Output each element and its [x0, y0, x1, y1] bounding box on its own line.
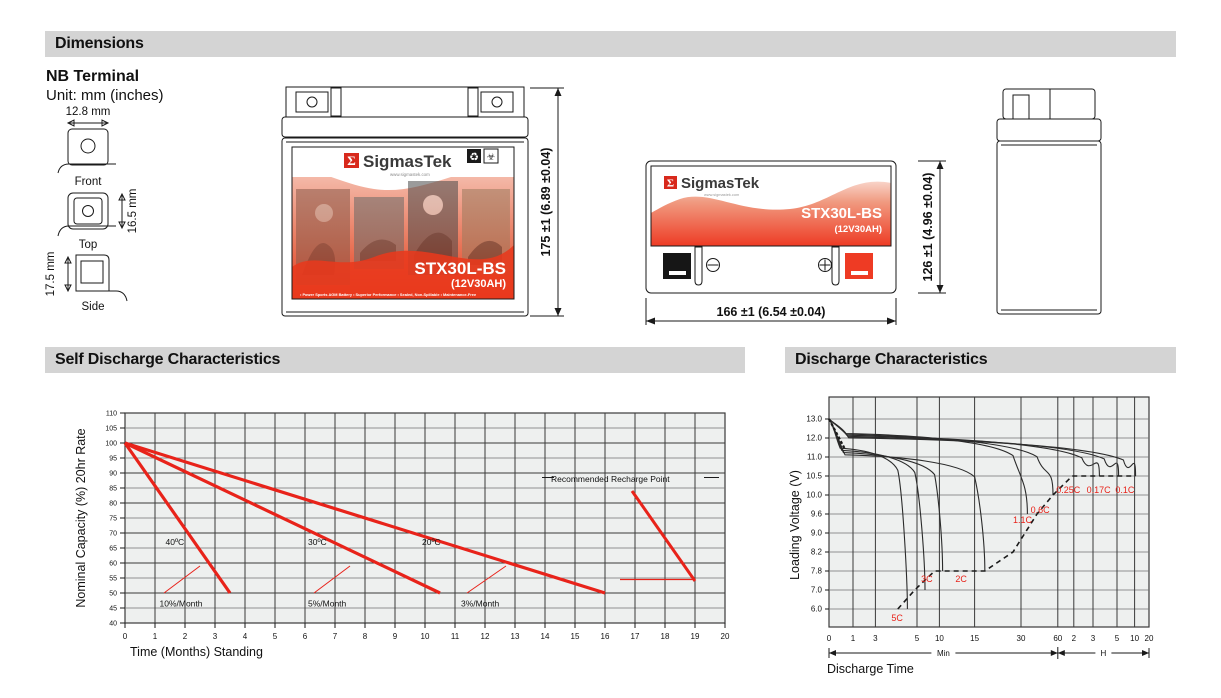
discharge-xtick: 20 [1145, 634, 1154, 643]
self-discharge-ytick: 75 [109, 516, 117, 523]
self-discharge-xtick: 10 [421, 632, 430, 641]
discharge-c-rate-label: 3C [921, 574, 933, 584]
discharge-ytick: 7.0 [811, 586, 823, 595]
self-discharge-xtick: 20 [721, 632, 730, 641]
self-discharge-annotation: 40ºC [166, 537, 185, 547]
self-discharge-xlabel: Time (Months) Standing [130, 645, 263, 659]
brand-website-top: www.sigmastek.com [704, 192, 739, 197]
discharge-c-rate-label: 0.1C [1115, 485, 1135, 495]
discharge-ytick: 12.0 [806, 434, 822, 443]
terminal-view-front-label: Front [75, 176, 103, 188]
discharge-c-rate-label: 0.25C [1056, 485, 1081, 495]
discharge-c-rate-label: 1.1C [1013, 515, 1033, 525]
svg-text:Σ: Σ [347, 153, 356, 168]
dimension-width-label: 166 ±1 (6.54 ±0.04) [717, 305, 826, 319]
battery-front-view: Σ SigmasTek www.sigmastek.com ♻ ☣ STX30L… [278, 85, 538, 325]
self-discharge-annotation: 30ºC [308, 537, 327, 547]
battery-spec-front: (12V30AH) [451, 278, 506, 290]
terminal-negative-block [663, 253, 691, 279]
svg-text:Σ: Σ [667, 178, 674, 190]
section-header-dimensions: Dimensions [45, 31, 1176, 57]
terminal-height-label: 17.5 mm [45, 252, 57, 297]
discharge-ytick: 11.0 [807, 453, 823, 462]
self-discharge-xtick: 7 [333, 632, 338, 641]
battery-side-view [975, 85, 1115, 325]
section-header-self-discharge: Self Discharge Characteristics [45, 347, 745, 373]
discharge-ytick: 7.8 [811, 567, 823, 576]
battery-model-front: STX30L-BS [414, 259, 506, 278]
discharge-ytick: 8.2 [811, 548, 823, 557]
discharge-ytick: 10.0 [806, 491, 822, 500]
self-discharge-ytick: 105 [105, 426, 117, 433]
terminal-width-label: 12.8 mm [66, 106, 111, 118]
battery-top-view: Σ SigmasTek www.sigmastek.com STX30L-BS … [640, 155, 920, 330]
discharge-xtick: 60 [1053, 634, 1062, 643]
self-discharge-ytick: 55 [109, 576, 117, 583]
self-discharge-annotation: 10%/Month [160, 599, 203, 609]
discharge-xtick: 5 [915, 634, 920, 643]
battery-spec-top: (12V30AH) [834, 224, 882, 235]
self-discharge-xtick: 12 [481, 632, 490, 641]
discharge-c-rate-label: 2C [955, 574, 967, 584]
self-discharge-ytick: 110 [106, 411, 117, 418]
discharge-xtick: 15 [970, 634, 979, 643]
discharge-ylabel: Loading Voltage (V) [788, 470, 802, 580]
self-discharge-ytick: 95 [109, 456, 117, 463]
self-discharge-ytick: 60 [109, 561, 117, 568]
positive-terminal-icon [819, 259, 832, 272]
section-header-discharge: Discharge Characteristics [785, 347, 1176, 373]
discharge-ytick: 10.5 [806, 472, 822, 481]
self-discharge-annotation: Recommended Recharge Point [551, 474, 670, 484]
brand-name-top: SigmasTek [681, 175, 760, 192]
terminal-view-top-label: Top [79, 239, 98, 251]
dimension-height: 175 ±1 (6.89 ±0.04) [528, 85, 608, 325]
discharge-c-rate-label: 0.17C [1087, 485, 1112, 495]
section-title-dimensions: Dimensions [55, 35, 144, 53]
discharge-xtick: 3 [873, 634, 878, 643]
brand-name-front: SigmasTek [363, 152, 452, 171]
self-discharge-xtick: 14 [541, 632, 550, 641]
svg-text:♻: ♻ [469, 152, 479, 164]
terminal-detail-drawing: 12.8 mm Front Top 16.5 mm Side 17.5 mm [40, 105, 240, 330]
discharge-c-rate-label: 0.6C [1031, 505, 1051, 515]
self-discharge-ytick: 85 [109, 486, 117, 493]
section-title-discharge: Discharge Characteristics [795, 351, 987, 369]
self-discharge-xtick: 9 [393, 632, 398, 641]
discharge-xtick: 0 [827, 634, 832, 643]
self-discharge-annotation: 5%/Month [308, 599, 347, 609]
discharge-chart: 6.07.07.88.29.09.610.010.511.012.013.0 0… [785, 385, 1185, 680]
self-discharge-xtick: 8 [363, 632, 368, 641]
discharge-xtick: 3 [1091, 634, 1096, 643]
self-discharge-xtick: 18 [661, 632, 670, 641]
discharge-ytick: 13.0 [806, 415, 822, 424]
dimension-case-height: 126 ±1 (4.96 ±0.04) [918, 155, 978, 305]
terminal-depth-label: 16.5 mm [127, 189, 139, 234]
discharge-xtick: 10 [1130, 634, 1139, 643]
discharge-xtick: 10 [935, 634, 944, 643]
self-discharge-xtick: 2 [183, 632, 188, 641]
svg-text:☣: ☣ [487, 152, 496, 163]
discharge-xtick: 5 [1115, 634, 1120, 643]
self-discharge-ytick: 65 [109, 546, 117, 553]
self-discharge-xtick: 11 [451, 632, 460, 641]
discharge-xtick: 1 [851, 634, 856, 643]
dimension-height-label: 175 ±1 (6.89 ±0.04) [539, 148, 553, 257]
self-discharge-xtick: 4 [243, 632, 248, 641]
self-discharge-xtick: 17 [631, 632, 640, 641]
self-discharge-ytick: 40 [109, 621, 117, 628]
self-discharge-annotation: 20ºC [422, 537, 441, 547]
discharge-ytick: 6.0 [811, 605, 823, 614]
self-discharge-xtick: 1 [153, 632, 158, 641]
self-discharge-annotation: 3%/Month [461, 599, 500, 609]
self-discharge-ytick: 100 [105, 441, 117, 448]
discharge-xtick: 2 [1072, 634, 1077, 643]
negative-terminal-icon [707, 259, 720, 272]
discharge-ytick: 9.0 [811, 529, 823, 538]
self-discharge-xtick: 3 [213, 632, 218, 641]
self-discharge-xtick: 5 [273, 632, 278, 641]
self-discharge-xtick: 6 [303, 632, 308, 641]
nb-terminal-title: NB Terminal [46, 68, 139, 86]
unit-label: Unit: mm (inches) [46, 87, 164, 104]
discharge-axis-group-min: Min [937, 649, 950, 658]
self-discharge-ytick: 90 [109, 471, 117, 478]
discharge-xtick: 30 [1017, 634, 1026, 643]
self-discharge-ytick: 80 [109, 501, 117, 508]
discharge-ytick: 9.6 [811, 510, 823, 519]
discharge-c-rate-label: 5C [891, 613, 903, 623]
self-discharge-ytick: 45 [109, 606, 117, 613]
section-title-self-discharge: Self Discharge Characteristics [55, 351, 280, 369]
recycle-icon: ♻ [467, 149, 481, 164]
terminal-view-side-label: Side [81, 301, 104, 313]
self-discharge-ylabel: Nominal Capacity (%) 20hr Rate [74, 428, 88, 607]
self-discharge-chart: 404550556065707580859095100105110 012345… [45, 400, 745, 665]
self-discharge-xtick: 13 [511, 632, 520, 641]
self-discharge-xtick: 15 [571, 632, 580, 641]
discharge-axis-group-hour: H [1101, 649, 1107, 658]
self-discharge-xtick: 0 [123, 632, 128, 641]
self-discharge-ytick: 70 [109, 531, 117, 538]
brand-website-front: www.sigmastek.com [390, 172, 430, 177]
battery-model-top: STX30L-BS [801, 205, 882, 222]
self-discharge-xtick: 19 [691, 632, 700, 641]
battery-tagline: • Power Sports AGM Battery • Superior Pe… [300, 292, 477, 297]
self-discharge-ytick: 50 [109, 591, 117, 598]
terminal-positive-block [845, 253, 873, 279]
dimension-case-height-label: 126 ±1 (4.96 ±0.04) [921, 173, 935, 282]
self-discharge-xtick: 16 [601, 632, 610, 641]
discharge-xlabel: Discharge Time [827, 662, 914, 676]
